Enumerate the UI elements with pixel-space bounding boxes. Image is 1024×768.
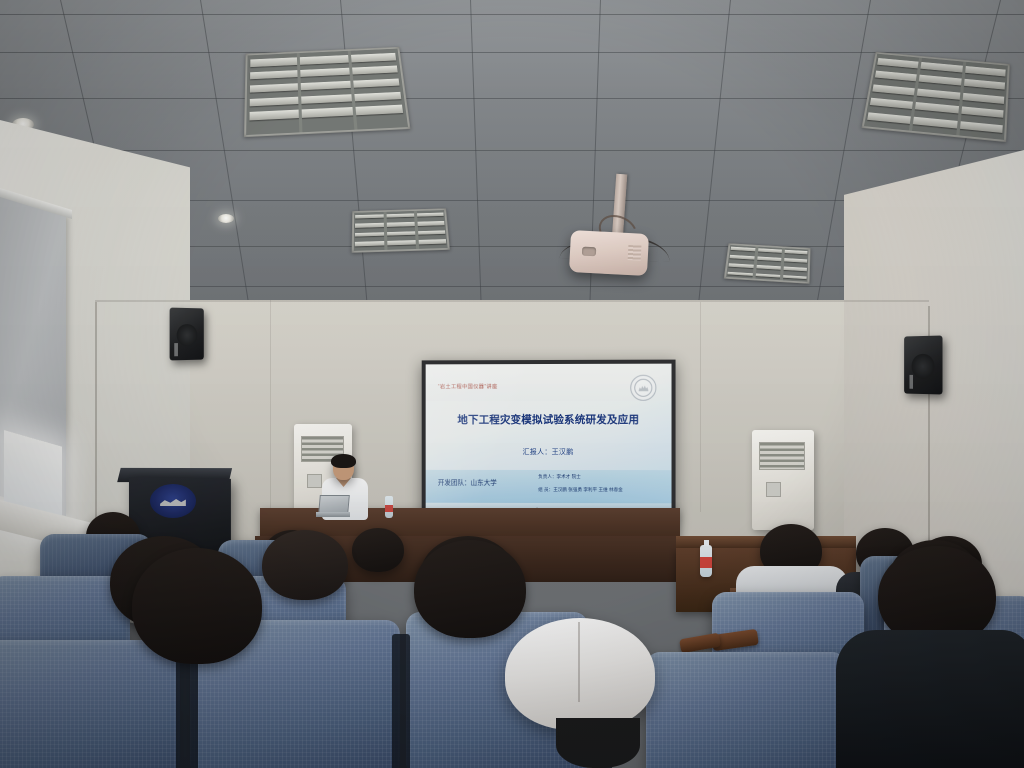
slide-members-line: 组 员：王汉鹏 张强勇 李利平 王维 林春金 — [538, 487, 623, 493]
audience-member — [132, 548, 262, 664]
auditorium-seat — [0, 640, 180, 768]
slide-presenter-line: 汇报人：王汉鹏 — [426, 447, 672, 457]
audience-member — [414, 540, 526, 638]
presentation-slide: “岩土工程中国仪器”讲座 地下工程灾变模拟试验系统研发及应用 汇报人：王汉鹏 开… — [426, 364, 672, 521]
white-baseball-cap — [505, 618, 655, 730]
louvered-ceiling-light — [724, 243, 811, 284]
slide-lead-line: 负责人：李术才 院士 — [538, 474, 581, 480]
wall-speaker-right — [904, 335, 942, 394]
slide-title: 地下工程灾变模拟试验系统研发及应用 — [426, 412, 672, 427]
audience-member — [262, 530, 348, 600]
slide-lecture-series: “岩土工程中国仪器”讲座 — [438, 383, 498, 390]
water-bottle — [385, 496, 393, 518]
projector-lens — [582, 247, 596, 257]
audience-member — [352, 528, 404, 572]
auditorium-seat — [646, 652, 846, 768]
floor-standing-air-conditioner-right — [752, 430, 814, 530]
ceiling-mounted-projector — [569, 230, 649, 276]
presenter-laptop — [316, 495, 350, 517]
podium-university-emblem — [150, 484, 196, 518]
water-bottle — [700, 545, 712, 577]
louvered-ceiling-light — [244, 47, 410, 137]
cap-seam — [578, 622, 580, 702]
cap-brim — [556, 718, 640, 768]
recessed-downlight — [218, 214, 234, 223]
wall-speaker-left — [170, 308, 204, 361]
slide-team-label: 开发团队：山东大学 — [438, 477, 497, 487]
louvered-ceiling-light — [352, 208, 450, 252]
projector-vent — [628, 245, 642, 261]
lecture-hall-photo: “岩土工程中国仪器”讲座 地下工程灾变模拟试验系统研发及应用 汇报人：王汉鹏 开… — [0, 0, 1024, 768]
audience-member-shoulders — [836, 630, 1024, 768]
university-seal-logo — [630, 375, 656, 401]
projection-screen: “岩土工程中国仪器”讲座 地下工程灾变模拟试验系统研发及应用 汇报人：王汉鹏 开… — [422, 360, 676, 525]
louvered-ceiling-light — [862, 52, 1010, 142]
